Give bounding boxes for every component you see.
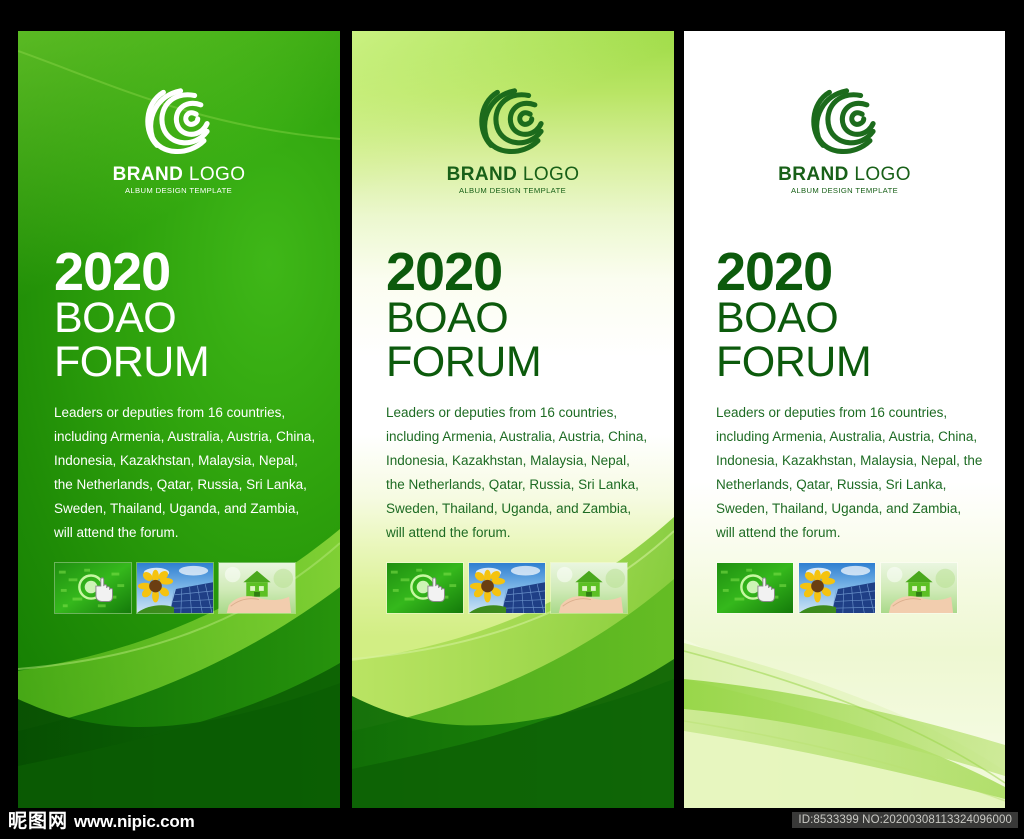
logo-brand-bold: BRAND — [778, 164, 849, 185]
green-tech-click-photo[interactable] — [54, 562, 132, 614]
logo-block[interactable]: BRAND LOGO ALBUM DESIGN TEMPLATE — [684, 83, 1005, 195]
sunflower-solar-panel-photo[interactable] — [468, 562, 546, 614]
image-id-watermark: ID:8533399 NO:20200308113324096000 — [792, 812, 1018, 828]
hand-holding-green-house-photo[interactable] — [550, 562, 628, 614]
green-tech-click-photo[interactable] — [386, 562, 464, 614]
logo-brand-light: LOGO — [189, 164, 246, 185]
globe-swirl-logo-icon — [806, 83, 884, 161]
logo-tagline: ALBUM DESIGN TEMPLATE — [791, 186, 898, 195]
logo-wordmark: BRAND LOGO — [447, 165, 580, 185]
logo-block[interactable]: BRAND LOGO ALBUM DESIGN TEMPLATE — [352, 83, 674, 195]
logo-brand-bold: BRAND — [113, 164, 184, 185]
banner-panel-green[interactable]: BRAND LOGO ALBUM DESIGN TEMPLATE 2020 BO… — [18, 31, 340, 808]
body-paragraph: Leaders or deputies from 16 countries, i… — [386, 401, 652, 545]
headline-event: BOAO FORUM — [716, 297, 983, 385]
panel-content: 2020 BOAO FORUM Leaders or deputies from… — [386, 246, 652, 545]
logo-tagline: ALBUM DESIGN TEMPLATE — [125, 186, 232, 195]
headline-year: 2020 — [386, 246, 652, 299]
green-tech-click-photo[interactable] — [716, 562, 794, 614]
headline-year: 2020 — [54, 246, 318, 299]
banner-panel-white[interactable]: BRAND LOGO ALBUM DESIGN TEMPLATE 2020 BO… — [684, 31, 1005, 808]
sunflower-solar-panel-photo[interactable] — [136, 562, 214, 614]
photo-strip — [716, 562, 958, 614]
globe-swirl-logo-icon — [140, 83, 218, 161]
hand-holding-green-house-photo[interactable] — [218, 562, 296, 614]
headline-event: BOAO FORUM — [386, 297, 652, 385]
panel-content: 2020 BOAO FORUM Leaders or deputies from… — [54, 246, 318, 545]
nipic-chinese-label: 昵图网 — [8, 812, 68, 831]
body-paragraph: Leaders or deputies from 16 countries, i… — [54, 401, 318, 545]
logo-brand-light: LOGO — [854, 164, 911, 185]
photo-strip — [54, 562, 296, 614]
logo-brand-light: LOGO — [523, 164, 580, 185]
globe-swirl-logo-icon — [474, 83, 552, 161]
logo-wordmark: BRAND LOGO — [113, 165, 246, 185]
logo-wordmark: BRAND LOGO — [778, 165, 911, 185]
headline-year: 2020 — [716, 246, 983, 299]
photo-strip — [386, 562, 628, 614]
body-paragraph: Leaders or deputies from 16 countries, i… — [716, 401, 983, 545]
hand-holding-green-house-photo[interactable] — [880, 562, 958, 614]
headline-event: BOAO FORUM — [54, 297, 318, 385]
logo-block[interactable]: BRAND LOGO ALBUM DESIGN TEMPLATE — [18, 83, 340, 195]
nipic-url-label: www.nipic.com — [74, 813, 195, 830]
panel-content: 2020 BOAO FORUM Leaders or deputies from… — [716, 246, 983, 545]
banner-canvas: BRAND LOGO ALBUM DESIGN TEMPLATE 2020 BO… — [0, 0, 1024, 839]
nipic-watermark: 昵图网 www.nipic.com — [8, 812, 195, 831]
logo-brand-bold: BRAND — [447, 164, 518, 185]
logo-tagline: ALBUM DESIGN TEMPLATE — [459, 186, 566, 195]
sunflower-solar-panel-photo[interactable] — [798, 562, 876, 614]
banner-panel-lime-gradient[interactable]: BRAND LOGO ALBUM DESIGN TEMPLATE 2020 BO… — [352, 31, 674, 808]
